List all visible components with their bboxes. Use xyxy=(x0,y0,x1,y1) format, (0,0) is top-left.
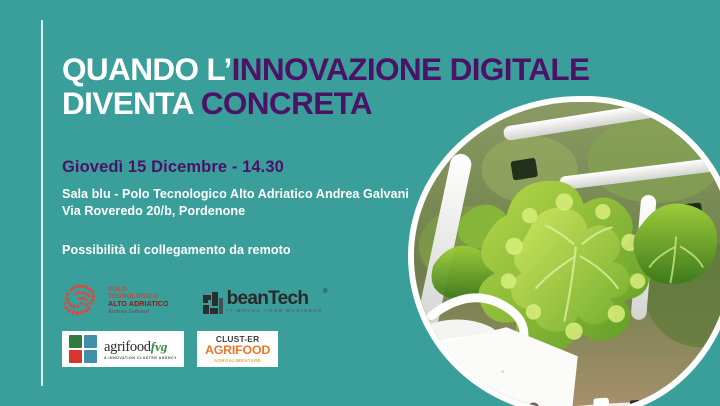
logo-polo-tecnologico: POLO TECNOLOGICO ALTO ADRIATICO Andrea G… xyxy=(62,281,169,321)
agrifood-tile-water-icon xyxy=(84,350,97,363)
cluster-line2: AGRIFOOD xyxy=(205,344,270,357)
event-poster: QUANDO L’INNOVAZIONE DIGITALE DIVENTA CO… xyxy=(0,0,720,406)
event-date-time: Giovedì 15 Dicembre - 14.30 xyxy=(62,156,482,178)
polo-line3: ALTO ADRIATICO xyxy=(108,301,169,308)
poster-headline: QUANDO L’INNOVAZIONE DIGITALE DIVENTA CO… xyxy=(62,52,682,120)
agrifood-suffix: fvg xyxy=(151,339,168,354)
beantech-name: beanTech xyxy=(227,289,323,308)
logo-clust-er-agrifood: CLUST-ER AGRIFOOD AGROALIMENTARE xyxy=(197,331,278,367)
polo-wordmark: POLO TECNOLOGICO ALTO ADRIATICO Andrea G… xyxy=(108,286,169,316)
logo-agrifood-fvg: agrifoodfvg A INNOVATION CLUSTER AGENCY xyxy=(62,331,184,367)
agrifood-tagline: A INNOVATION CLUSTER AGENCY xyxy=(104,356,177,361)
event-venue: Sala blu - Polo Tecnologico Alto Adriati… xyxy=(62,186,482,203)
event-details: Giovedì 15 Dicembre - 14.30 Sala blu - P… xyxy=(62,156,482,259)
beantech-wordmark: beanTech ® IT moves your business xyxy=(227,289,323,314)
agrifood-tile-mountain-icon xyxy=(84,335,97,348)
sponsor-logos-row-2: agrifoodfvg A INNOVATION CLUSTER AGENCY … xyxy=(62,331,278,367)
beantech-tagline: IT moves your business xyxy=(227,308,323,314)
agrifood-name: agrifood xyxy=(104,339,151,355)
headline-line2-white: DIVENTA xyxy=(62,85,201,121)
agrifood-tile-sun-icon xyxy=(69,350,82,363)
polo-line1: POLO xyxy=(108,286,169,293)
headline-line1-white: QUANDO L’ xyxy=(62,51,232,87)
cluster-line3: AGROALIMENTARE xyxy=(214,357,261,364)
agrifood-name-row: agrifoodfvg xyxy=(104,338,177,356)
headline-line2: DIVENTA CONCRETA xyxy=(62,86,682,120)
agrifood-icon-grid xyxy=(69,335,97,363)
event-remote-note: Possibilità di collegamento da remoto xyxy=(62,242,482,259)
event-address: Via Roveredo 20/b, Pordenone xyxy=(62,203,482,220)
headline-line2-purple: CONCRETA xyxy=(201,85,372,121)
logo-beantech: beanTech ® IT moves your business xyxy=(203,289,323,314)
beantech-registered-mark: ® xyxy=(323,289,327,295)
beantech-mark-icon xyxy=(203,292,223,314)
polo-spiral-icon xyxy=(62,281,102,321)
agrifood-wordmark: agrifoodfvg A INNOVATION CLUSTER AGENCY xyxy=(104,338,177,361)
agrifood-tile-field-icon xyxy=(69,335,82,348)
polo-line4: Andrea Galvani xyxy=(108,308,169,316)
headline-line1-purple: INNOVAZIONE DIGITALE xyxy=(232,51,590,87)
vertical-divider-rule xyxy=(41,20,43,386)
sponsor-logos-row-1: POLO TECNOLOGICO ALTO ADRIATICO Andrea G… xyxy=(62,281,323,321)
